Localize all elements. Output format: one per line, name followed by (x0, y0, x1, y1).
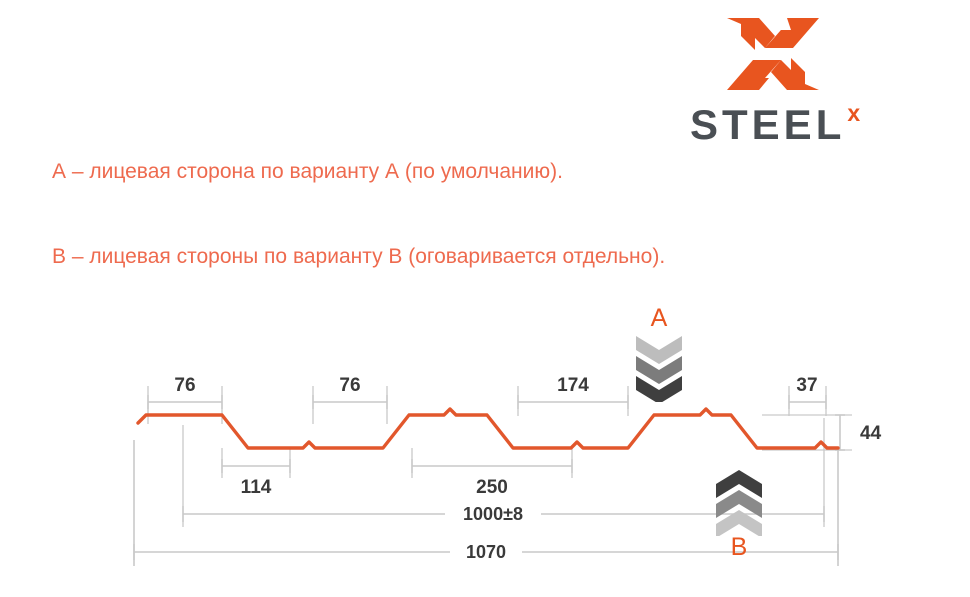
brand-logo: STEEL x (690, 14, 910, 144)
dimension-label: 76 (174, 375, 195, 396)
wordmark-steel: STEEL (690, 104, 845, 146)
dimension-label: 1000±8 (463, 504, 523, 524)
marker-variant-a: А (628, 306, 690, 398)
dimension-label: 114 (241, 477, 272, 498)
dimension-pitch-174: 174 (518, 375, 628, 409)
dimension-crest-left: 76 (148, 375, 222, 409)
dimension-label: 1070 (466, 542, 506, 562)
marker-b-label: В (708, 535, 770, 560)
chevron-up-triple-icon (708, 468, 770, 536)
dimension-label: 174 (557, 375, 589, 396)
dimension-label: 250 (476, 477, 508, 498)
caption-variant-b: В – лицевая стороны по варианту В (огова… (52, 245, 665, 269)
chevron-down-triple-icon (628, 334, 690, 402)
caption-variant-a: А – лицевая сторона по варианту А (по ум… (52, 160, 563, 184)
steelx-x-logo-icon (725, 14, 821, 94)
dimension-crest-mid: 76 (313, 375, 387, 409)
drawing-page: STEEL x А – лицевая сторона по варианту … (0, 0, 970, 597)
profile-outline (138, 409, 838, 448)
dimension-valley-250: 250 (412, 459, 572, 498)
dimension-label: 76 (339, 375, 360, 396)
dimension-label: 37 (796, 375, 817, 396)
brand-wordmark: STEEL x (690, 104, 910, 148)
wordmark-superscript-x: x (847, 102, 860, 125)
marker-variant-b: В (708, 468, 770, 560)
dimension-crest-right: 37 (789, 375, 826, 409)
dimension-height-44: 44 (835, 415, 882, 450)
marker-a-label: А (628, 306, 690, 331)
dimension-label: 44 (860, 423, 882, 444)
dimension-valley-114: 114 (222, 459, 290, 498)
